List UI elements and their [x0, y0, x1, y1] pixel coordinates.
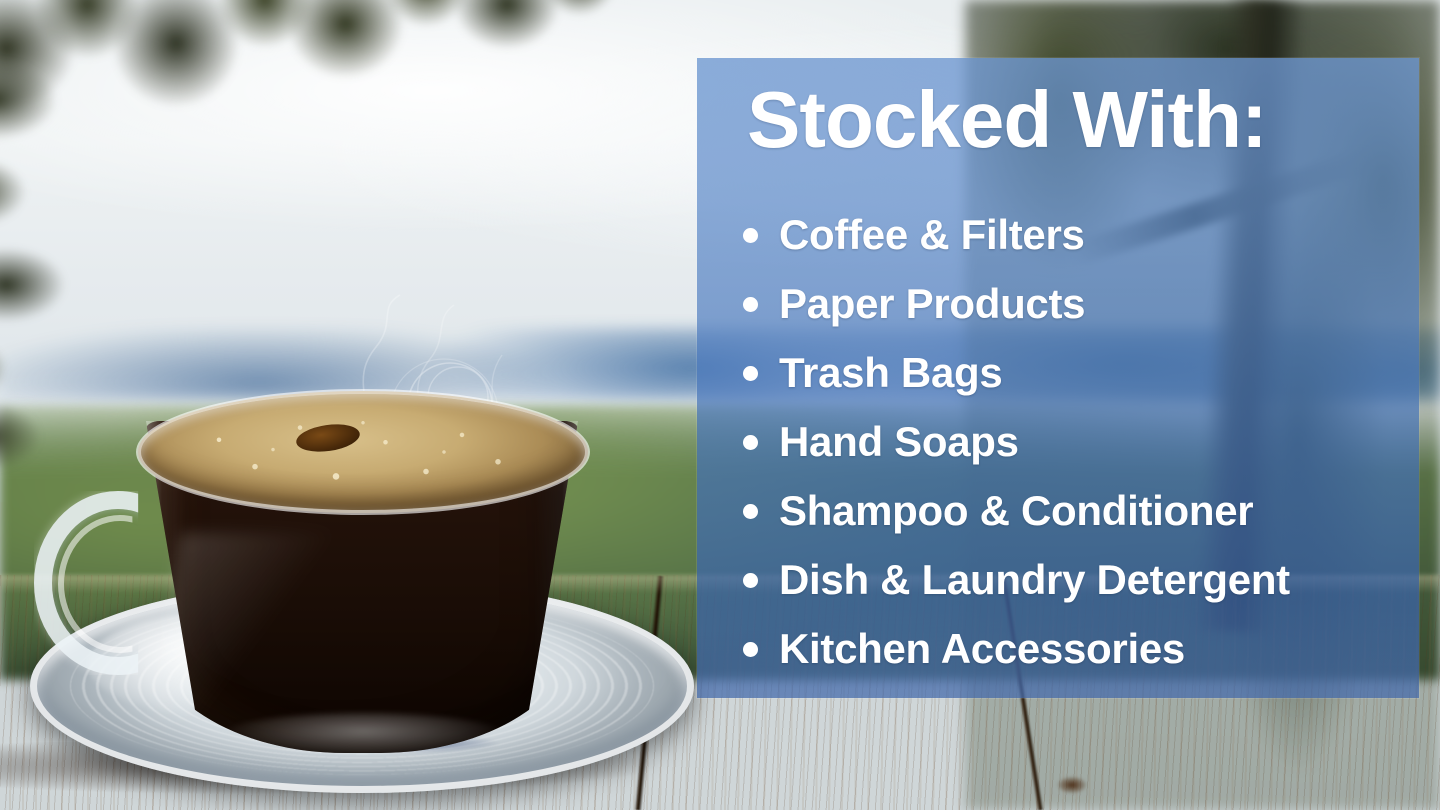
bullet-icon [743, 435, 758, 450]
list-item-label: Coffee & Filters [779, 211, 1085, 259]
cup-bottom-highlight [218, 713, 508, 759]
stocked-with-panel: Stocked With: Coffee & Filters Paper Pro… [697, 58, 1419, 698]
stocked-items-list: Coffee & Filters Paper Products Trash Ba… [731, 200, 1409, 683]
list-item: Paper Products [731, 269, 1409, 338]
list-item-label: Dish & Laundry Detergent [779, 556, 1290, 604]
list-item-label: Paper Products [779, 280, 1085, 328]
list-item: Dish & Laundry Detergent [731, 545, 1409, 614]
list-item-label: Trash Bags [779, 349, 1002, 397]
bullet-icon [743, 366, 758, 381]
cup-rim [136, 389, 590, 515]
list-item: Hand Soaps [731, 407, 1409, 476]
cup-sheen [151, 533, 331, 723]
coffee-cup-group [18, 383, 708, 803]
list-item-label: Shampoo & Conditioner [779, 487, 1253, 535]
bullet-icon [743, 573, 758, 588]
bullet-icon [743, 297, 758, 312]
bullet-icon [743, 504, 758, 519]
bullet-icon [743, 228, 758, 243]
list-item-label: Hand Soaps [779, 418, 1019, 466]
slide-canvas: Stocked With: Coffee & Filters Paper Pro… [0, 0, 1440, 810]
list-item: Coffee & Filters [731, 200, 1409, 269]
page-title: Stocked With: [747, 80, 1267, 160]
bullet-icon [743, 642, 758, 657]
list-item: Shampoo & Conditioner [731, 476, 1409, 545]
list-item: Kitchen Accessories [731, 614, 1409, 683]
list-item: Trash Bags [731, 338, 1409, 407]
list-item-label: Kitchen Accessories [779, 625, 1185, 673]
